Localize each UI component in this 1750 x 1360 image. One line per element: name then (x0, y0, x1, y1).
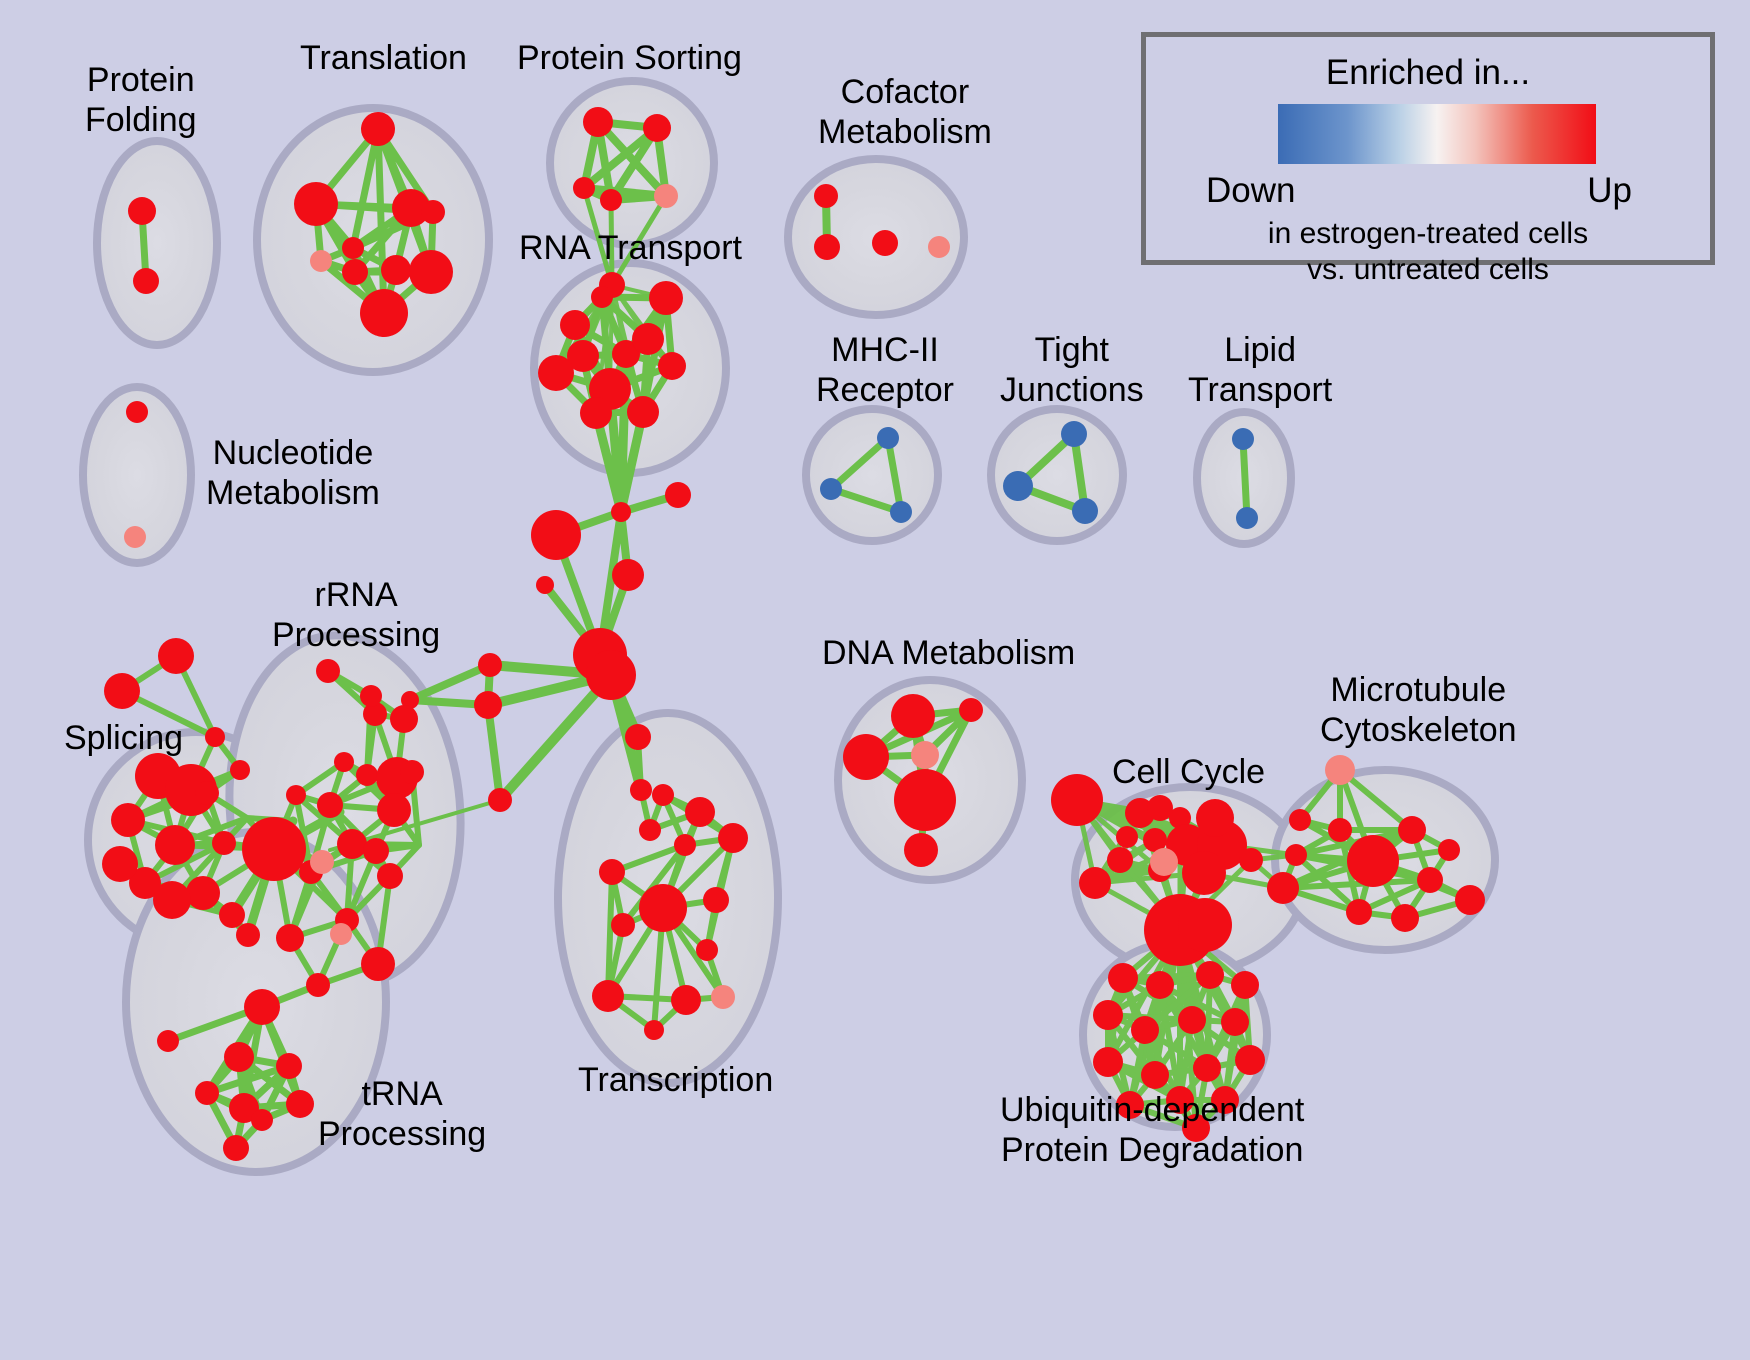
node (1116, 826, 1138, 848)
node (872, 230, 898, 256)
node (814, 234, 840, 260)
node (654, 184, 678, 208)
node (1231, 971, 1259, 999)
node (1147, 795, 1173, 821)
node (1221, 1008, 1249, 1036)
node (1131, 1016, 1159, 1044)
node (538, 355, 574, 391)
legend-caption-line2: vs. untreated cells (1146, 253, 1710, 287)
node (904, 833, 938, 867)
node (286, 1090, 314, 1118)
node (1150, 848, 1178, 876)
node (911, 741, 939, 769)
cluster-label-rrna-processing: rRNA Processing (272, 575, 440, 655)
node (390, 705, 418, 733)
node (1182, 851, 1226, 895)
node (891, 694, 935, 738)
node (531, 510, 581, 560)
node (632, 323, 664, 355)
node (111, 803, 145, 837)
node (1196, 961, 1224, 989)
node (212, 831, 236, 855)
node (890, 501, 912, 523)
node (612, 559, 644, 591)
node (126, 401, 148, 423)
node (1267, 872, 1299, 904)
cluster-label-ubiquitin-degradation: Ubiquitin-dependent Protein Degradation (1000, 1090, 1304, 1170)
node (251, 1109, 273, 1131)
cluster-label-transcription: Transcription (578, 1060, 773, 1100)
node (1289, 809, 1311, 831)
node (474, 691, 502, 719)
node (814, 184, 838, 208)
node (337, 829, 367, 859)
node (286, 785, 306, 805)
cluster-label-dna-metabolism: DNA Metabolism (822, 633, 1075, 673)
node (674, 834, 696, 856)
node (1196, 799, 1234, 837)
cluster-label-translation: Translation (300, 38, 467, 78)
node (1232, 428, 1254, 450)
node (1236, 507, 1258, 529)
node (1285, 844, 1307, 866)
node (928, 236, 950, 258)
node (317, 792, 343, 818)
node (124, 526, 146, 548)
node (310, 250, 332, 272)
node (153, 881, 191, 919)
node (242, 817, 306, 881)
cluster-label-microtubule-cytoskeleton: Microtubule Cytoskeleton (1320, 670, 1517, 750)
node (294, 182, 338, 226)
node (133, 268, 159, 294)
node (1239, 848, 1263, 872)
node (583, 107, 613, 137)
node (342, 259, 368, 285)
node (276, 1053, 302, 1079)
node (639, 884, 687, 932)
node (205, 727, 225, 747)
cluster-label-lipid-transport: Lipid Transport (1188, 330, 1332, 410)
cluster-label-cell-cycle: Cell Cycle (1112, 752, 1265, 792)
node (560, 310, 590, 340)
node (421, 200, 445, 224)
hull-protein-folding (97, 141, 217, 345)
node (711, 985, 735, 1009)
node (1178, 1006, 1206, 1034)
node (219, 902, 245, 928)
cluster-label-cofactor-metabolism: Cofactor Metabolism (818, 72, 992, 152)
node (223, 1135, 249, 1161)
node (1108, 963, 1138, 993)
node (671, 985, 701, 1015)
node (639, 819, 661, 841)
node (586, 650, 636, 700)
node (276, 924, 304, 952)
node (600, 189, 622, 211)
node (236, 923, 260, 947)
node (104, 673, 140, 709)
node (377, 863, 403, 889)
node (195, 1081, 219, 1105)
node (652, 784, 674, 806)
node (1093, 1000, 1123, 1030)
cluster-label-mhc-ii-receptor: MHC-II Receptor (816, 330, 954, 410)
node (644, 1020, 664, 1040)
legend-caption-line1: in estrogen-treated cells (1146, 217, 1710, 251)
node (157, 1030, 179, 1052)
node (1193, 1054, 1221, 1082)
cluster-label-trna-processing: tRNA Processing (318, 1074, 486, 1154)
node (611, 502, 631, 522)
node (310, 850, 334, 874)
node (1438, 839, 1460, 861)
node (1003, 471, 1033, 501)
node (627, 396, 659, 428)
legend-color-gradient (1278, 104, 1596, 164)
node (580, 397, 612, 429)
node (342, 237, 364, 259)
node (360, 289, 408, 337)
node (363, 838, 389, 864)
node (1347, 835, 1399, 887)
node (478, 653, 502, 677)
node (1391, 904, 1419, 932)
node (1093, 1047, 1123, 1077)
node (658, 352, 686, 380)
node (665, 482, 691, 508)
node (361, 947, 395, 981)
node (611, 913, 635, 937)
legend-high-label: Up (1587, 171, 1632, 211)
node (625, 724, 651, 750)
node (1061, 421, 1087, 447)
node (630, 779, 652, 801)
node (703, 887, 729, 913)
cluster-label-protein-sorting: Protein Sorting (517, 38, 742, 78)
node (696, 939, 718, 961)
node (1346, 899, 1372, 925)
node (400, 760, 424, 784)
enrichment-map-figure: Protein Folding Translation Protein Sort… (0, 0, 1750, 1360)
node (360, 685, 382, 707)
node (1325, 755, 1355, 785)
node (244, 989, 280, 1025)
node (158, 638, 194, 674)
node (1079, 867, 1111, 899)
node (1107, 847, 1133, 873)
legend-low-label: Down (1206, 171, 1295, 211)
node (1417, 867, 1443, 893)
node (381, 255, 411, 285)
node (1328, 818, 1352, 842)
node (1398, 816, 1426, 844)
node (409, 250, 453, 294)
node (877, 427, 899, 449)
node (592, 980, 624, 1012)
node (1146, 971, 1174, 999)
node (224, 1042, 254, 1072)
cluster-label-splicing: Splicing (64, 718, 183, 758)
node (488, 788, 512, 812)
node (959, 698, 983, 722)
cluster-label-rna-transport: RNA Transport (519, 228, 742, 268)
node (1141, 1061, 1169, 1089)
node (316, 659, 340, 683)
node (186, 876, 220, 910)
legend-box: Enriched in... Down Up in estrogen-treat… (1141, 32, 1715, 265)
node (195, 781, 219, 805)
node (128, 197, 156, 225)
node (591, 286, 613, 308)
hull-mhc (806, 409, 938, 541)
node (894, 769, 956, 831)
node (820, 478, 842, 500)
node (718, 823, 748, 853)
node (1455, 885, 1485, 915)
edge (1243, 439, 1247, 518)
node (536, 576, 554, 594)
node (649, 281, 683, 315)
node (843, 734, 889, 780)
node (1051, 774, 1103, 826)
node (306, 973, 330, 997)
node (1235, 1045, 1265, 1075)
legend-title: Enriched in... (1146, 53, 1710, 93)
cluster-label-protein-folding: Protein Folding (85, 60, 197, 140)
node (685, 797, 715, 827)
node (573, 177, 595, 199)
node (330, 923, 352, 945)
node (356, 764, 378, 786)
node (230, 760, 250, 780)
node (361, 112, 395, 146)
cluster-label-tight-junctions: Tight Junctions (1000, 330, 1144, 410)
cluster-label-nucleotide-metabolism: Nucleotide Metabolism (206, 433, 380, 513)
node (1178, 898, 1232, 952)
node (334, 752, 354, 772)
node (1072, 498, 1098, 524)
node (377, 793, 411, 827)
node (155, 825, 195, 865)
node (643, 114, 671, 142)
node (102, 846, 138, 882)
node (599, 859, 625, 885)
